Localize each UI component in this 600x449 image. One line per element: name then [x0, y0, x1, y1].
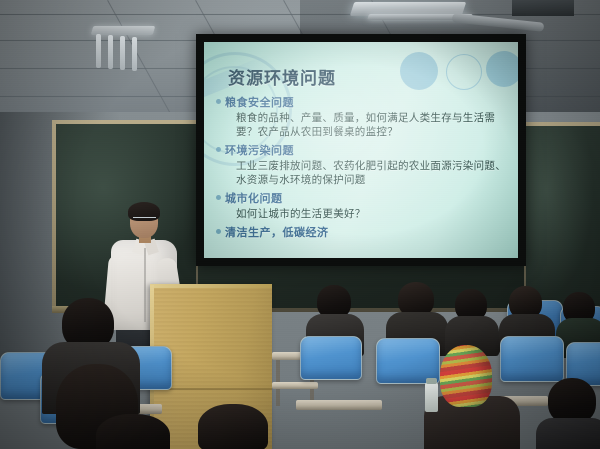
deco-circle-icon	[486, 51, 518, 87]
slide-bullet: 清洁生产，低碳经济	[214, 224, 514, 240]
water-bottle	[425, 382, 438, 412]
desk-shelf	[272, 382, 318, 389]
bottle-cap	[426, 378, 437, 384]
bullet-body: 粮食的品种、产量、质量，如何满足人类生存与生活需要？农产品从农田到餐桌的监控？	[214, 111, 514, 139]
bullet-heading: 清洁生产，低碳经济	[225, 224, 329, 240]
bullet-heading: 城市化问题	[225, 190, 283, 206]
podium-top-edge	[150, 284, 272, 288]
striped-headscarf	[440, 345, 492, 407]
chair	[500, 336, 564, 382]
bullet-dot-icon	[216, 147, 221, 152]
desk	[296, 400, 382, 410]
bullet-dot-icon	[216, 195, 221, 200]
chalkboard-right	[523, 126, 600, 310]
slide-bullet: 粮食安全问题	[214, 94, 514, 110]
bullet-body: 工业三废排放问题、农药化肥引起的农业面源污染问题、水资源与水环境的保护问题	[214, 159, 514, 187]
glasses-icon	[133, 217, 156, 223]
slide-bullet: 城市化问题	[214, 190, 514, 206]
bullet-dot-icon	[216, 229, 221, 234]
chair	[300, 336, 362, 380]
bullet-heading: 环境污染问题	[225, 142, 294, 158]
bullet-body: 如何让城市的生活更美好？	[214, 207, 514, 221]
ceiling-vent	[512, 0, 574, 16]
slide-closing-text: 环境与人类的健康问题	[225, 256, 340, 258]
slide-title: 资源环境问题	[228, 64, 336, 89]
slide-closing-row: 环境与人类的健康问题	[214, 256, 514, 258]
slide-bullet: 环境污染问题	[214, 142, 514, 158]
classroom-photo: 资源环境问题 粮食安全问题 粮食的品种、产量、质量，如何满足人类生存与生活需要？…	[0, 0, 600, 449]
deco-circle-outline-icon	[446, 54, 482, 90]
slide-body: 粮食安全问题 粮食的品种、产量、质量，如何满足人类生存与生活需要？农产品从农田到…	[214, 94, 514, 258]
bullet-heading: 粮食安全问题	[225, 94, 294, 110]
projection-screen: 资源环境问题 粮食安全问题 粮食的品种、产量、质量，如何满足人类生存与生活需要？…	[204, 42, 518, 258]
bullet-dot-icon	[216, 99, 221, 104]
deco-circle-icon	[400, 52, 438, 90]
